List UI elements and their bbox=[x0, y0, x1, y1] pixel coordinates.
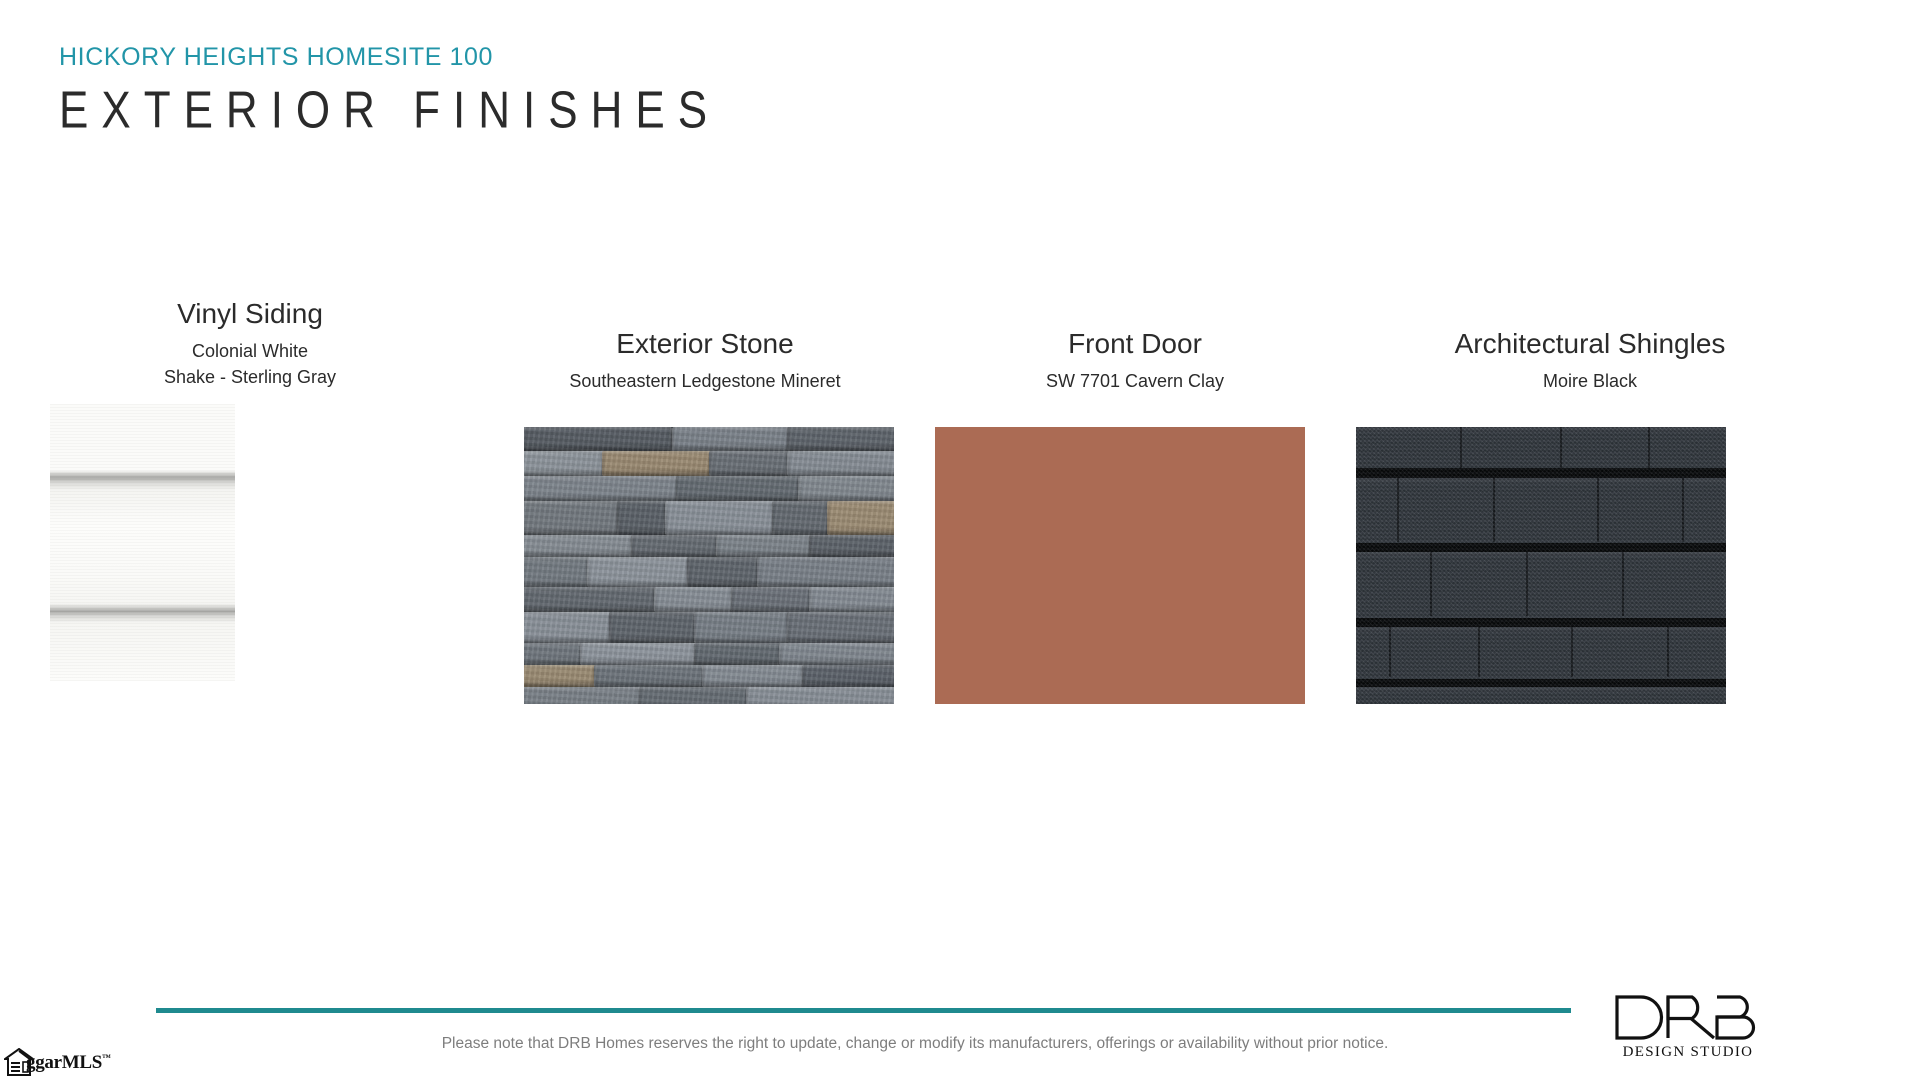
community-homesite-label: HICKORY HEIGHTS HOMESITE 100 bbox=[59, 44, 720, 72]
mls-watermark-text: ggarMLS™ bbox=[26, 1053, 111, 1072]
finish-title: Architectural Shingles bbox=[1350, 326, 1830, 361]
finish-detail-line: Southeastern Ledgestone Mineret bbox=[490, 369, 920, 395]
trademark-symbol: ™ bbox=[102, 1052, 111, 1062]
finish-details: Colonial White Shake - Sterling Gray bbox=[10, 339, 490, 390]
finish-title: Vinyl Siding bbox=[10, 296, 490, 331]
finish-card-architectural-shingles: Architectural Shingles Moire Black bbox=[1350, 296, 1830, 704]
finish-detail-line: Moire Black bbox=[1350, 369, 1830, 395]
swatch-vinyl-siding bbox=[50, 404, 235, 681]
finish-card-exterior-stone: Exterior Stone Southeastern Ledgestone M… bbox=[490, 296, 920, 704]
swatch-exterior-stone bbox=[524, 427, 894, 704]
finish-details: Moire Black bbox=[1350, 369, 1830, 395]
exterior-finishes-slide: HICKORY HEIGHTS HOMESITE 100 EXTERIOR FI… bbox=[0, 0, 1920, 1080]
finish-card-vinyl-siding: Vinyl Siding Colonial White Shake - Ster… bbox=[10, 296, 490, 681]
finish-detail-line: Shake - Sterling Gray bbox=[10, 365, 490, 391]
finishes-row: Vinyl Siding Colonial White Shake - Ster… bbox=[0, 296, 1920, 704]
footer-divider-rule bbox=[156, 1008, 1571, 1013]
drb-logo-wordmark: DESIGN STUDIO bbox=[1613, 1044, 1763, 1061]
slide-header: HICKORY HEIGHTS HOMESITE 100 EXTERIOR FI… bbox=[59, 44, 720, 130]
finish-title: Exterior Stone bbox=[490, 326, 920, 361]
finish-card-header: Exterior Stone Southeastern Ledgestone M… bbox=[490, 326, 920, 395]
finish-detail-line: SW 7701 Cavern Clay bbox=[920, 369, 1350, 395]
finish-details: SW 7701 Cavern Clay bbox=[920, 369, 1350, 395]
finish-card-header: Vinyl Siding Colonial White Shake - Ster… bbox=[10, 296, 490, 390]
finish-title: Front Door bbox=[920, 326, 1350, 361]
finish-detail-line: Colonial White bbox=[10, 339, 490, 365]
swatch-architectural-shingles bbox=[1356, 427, 1726, 704]
drb-design-studio-logo: DESIGN STUDIO bbox=[1613, 994, 1763, 1061]
swatch-front-door-color bbox=[935, 427, 1305, 704]
footer-disclaimer: Please note that DRB Homes reserves the … bbox=[0, 1035, 1830, 1053]
finish-card-header: Architectural Shingles Moire Black bbox=[1350, 326, 1830, 395]
drb-logo-icon bbox=[1613, 994, 1763, 1041]
finish-card-front-door: Front Door SW 7701 Cavern Clay bbox=[920, 296, 1350, 704]
page-title: EXTERIOR FINISHES bbox=[59, 84, 720, 139]
mls-watermark-label: ggarMLS bbox=[26, 1052, 102, 1073]
finish-details: Southeastern Ledgestone Mineret bbox=[490, 369, 920, 395]
finish-card-header: Front Door SW 7701 Cavern Clay bbox=[920, 326, 1350, 395]
mls-watermark: ggarMLS™ bbox=[4, 1048, 111, 1076]
